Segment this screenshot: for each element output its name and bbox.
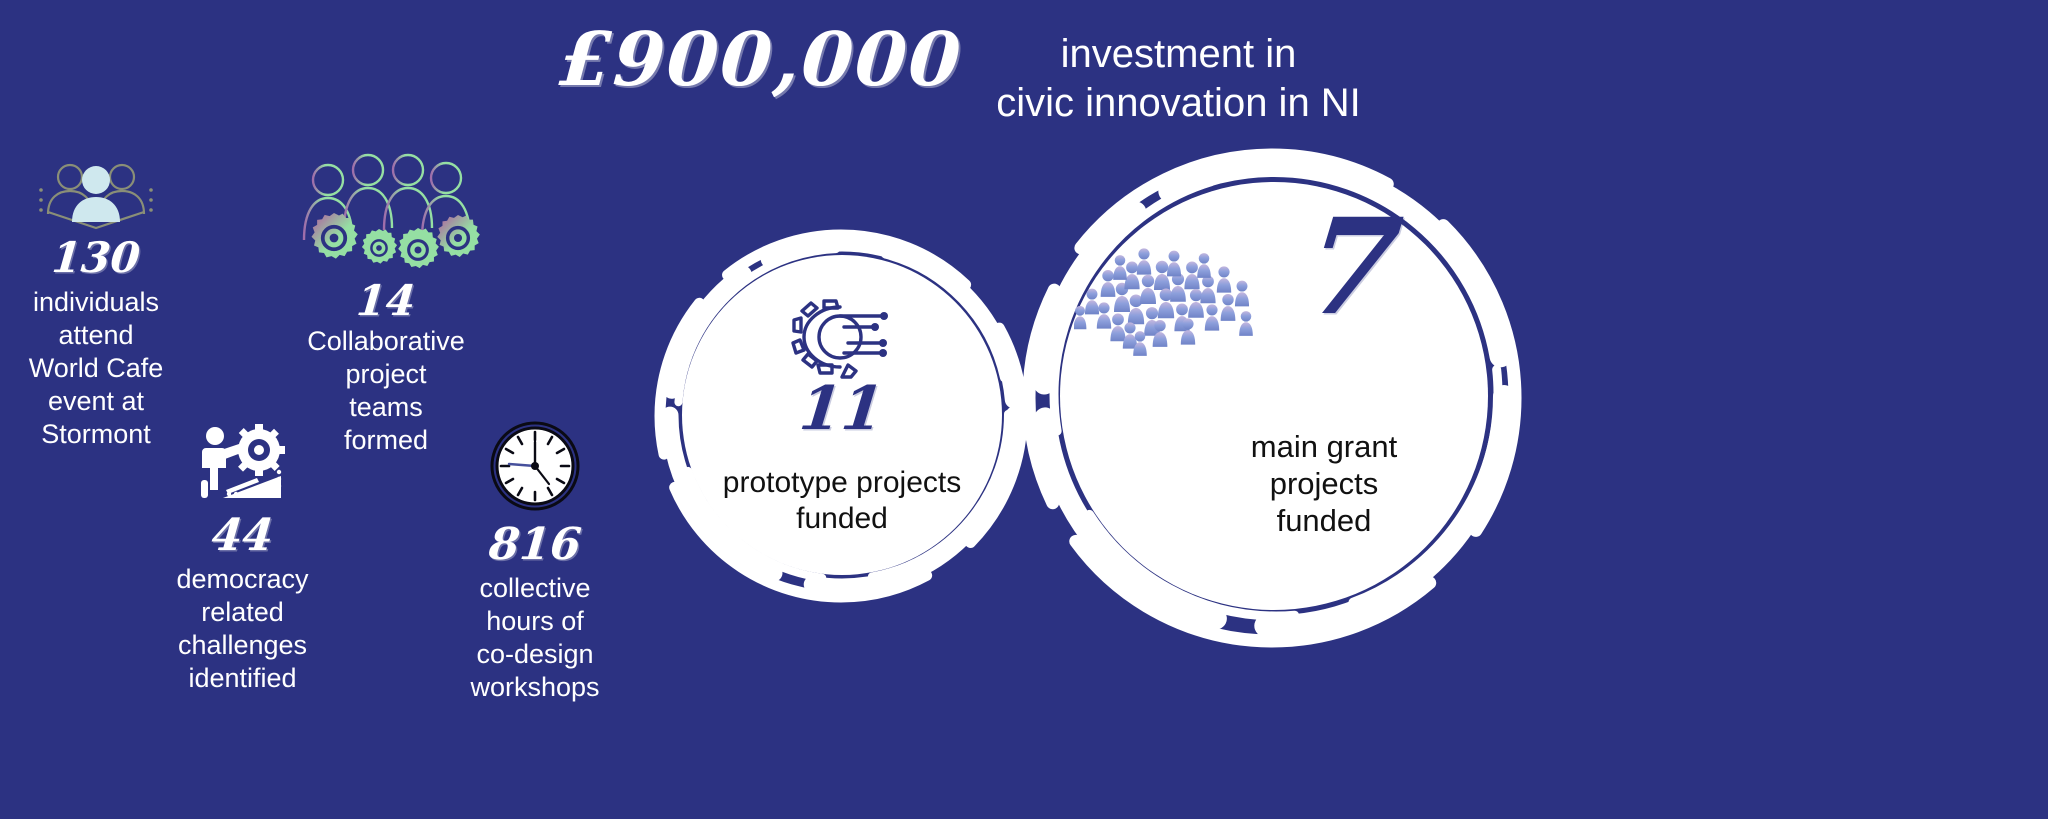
stat-teams: 14 Collaborative project teams formed bbox=[286, 150, 486, 457]
stat-number-individuals: 130 bbox=[4, 236, 188, 280]
headline: £900,000 investment in civic innovation … bbox=[560, 14, 1510, 144]
crowd-pawns-icon-wrap bbox=[1074, 232, 1274, 362]
stat-hours: 816 collective hours of co-design worksh… bbox=[440, 420, 630, 704]
people-gears-icon bbox=[286, 150, 486, 275]
stat-label-hours: collective hours of co-design workshops bbox=[440, 572, 630, 704]
stat-number-challenges: 44 bbox=[148, 513, 337, 559]
circle-stat-prototype: 11 prototype projects funded bbox=[652, 225, 1032, 605]
stat-challenges: 44 democracy related challenges identifi… bbox=[150, 420, 335, 695]
headline-amount: £900,000 bbox=[557, 14, 966, 107]
circle-label-maingrant: main grant projects funded bbox=[1194, 428, 1454, 540]
crowd-pawns-icon bbox=[1074, 232, 1274, 362]
people-gears-icon-wrap bbox=[286, 150, 486, 275]
stat-number-hours: 816 bbox=[438, 522, 632, 568]
circle-number-prototype: 11 bbox=[797, 379, 887, 439]
infographic-canvas: £900,000 investment in civic innovation … bbox=[0, 0, 2048, 819]
circle-content-prototype: 11 prototype projects funded bbox=[652, 225, 1032, 605]
people-group-icon bbox=[36, 160, 156, 230]
stat-number-teams: 14 bbox=[284, 279, 488, 323]
gear-circuit-icon bbox=[788, 293, 896, 379]
clock-icon bbox=[489, 420, 581, 512]
person-pushing-gear-icon bbox=[193, 420, 293, 505]
circle-stat-maingrant: 7 main grant projects funded bbox=[1018, 140, 1530, 652]
circle-number-maingrant: 7 bbox=[1301, 202, 1407, 334]
people-group-icon-wrap bbox=[6, 160, 186, 230]
person-pushing-gear-icon-wrap bbox=[150, 420, 335, 505]
headline-caption: investment in civic innovation in NI bbox=[996, 14, 1361, 128]
stat-individuals: 130 individuals attend World Cafe event … bbox=[6, 160, 186, 451]
stat-label-challenges: democracy related challenges identified bbox=[150, 563, 335, 695]
circle-content-maingrant: 7 main grant projects funded bbox=[1018, 140, 1530, 652]
clock-icon-wrap bbox=[440, 420, 630, 512]
circle-label-prototype: prototype projects funded bbox=[723, 465, 961, 537]
